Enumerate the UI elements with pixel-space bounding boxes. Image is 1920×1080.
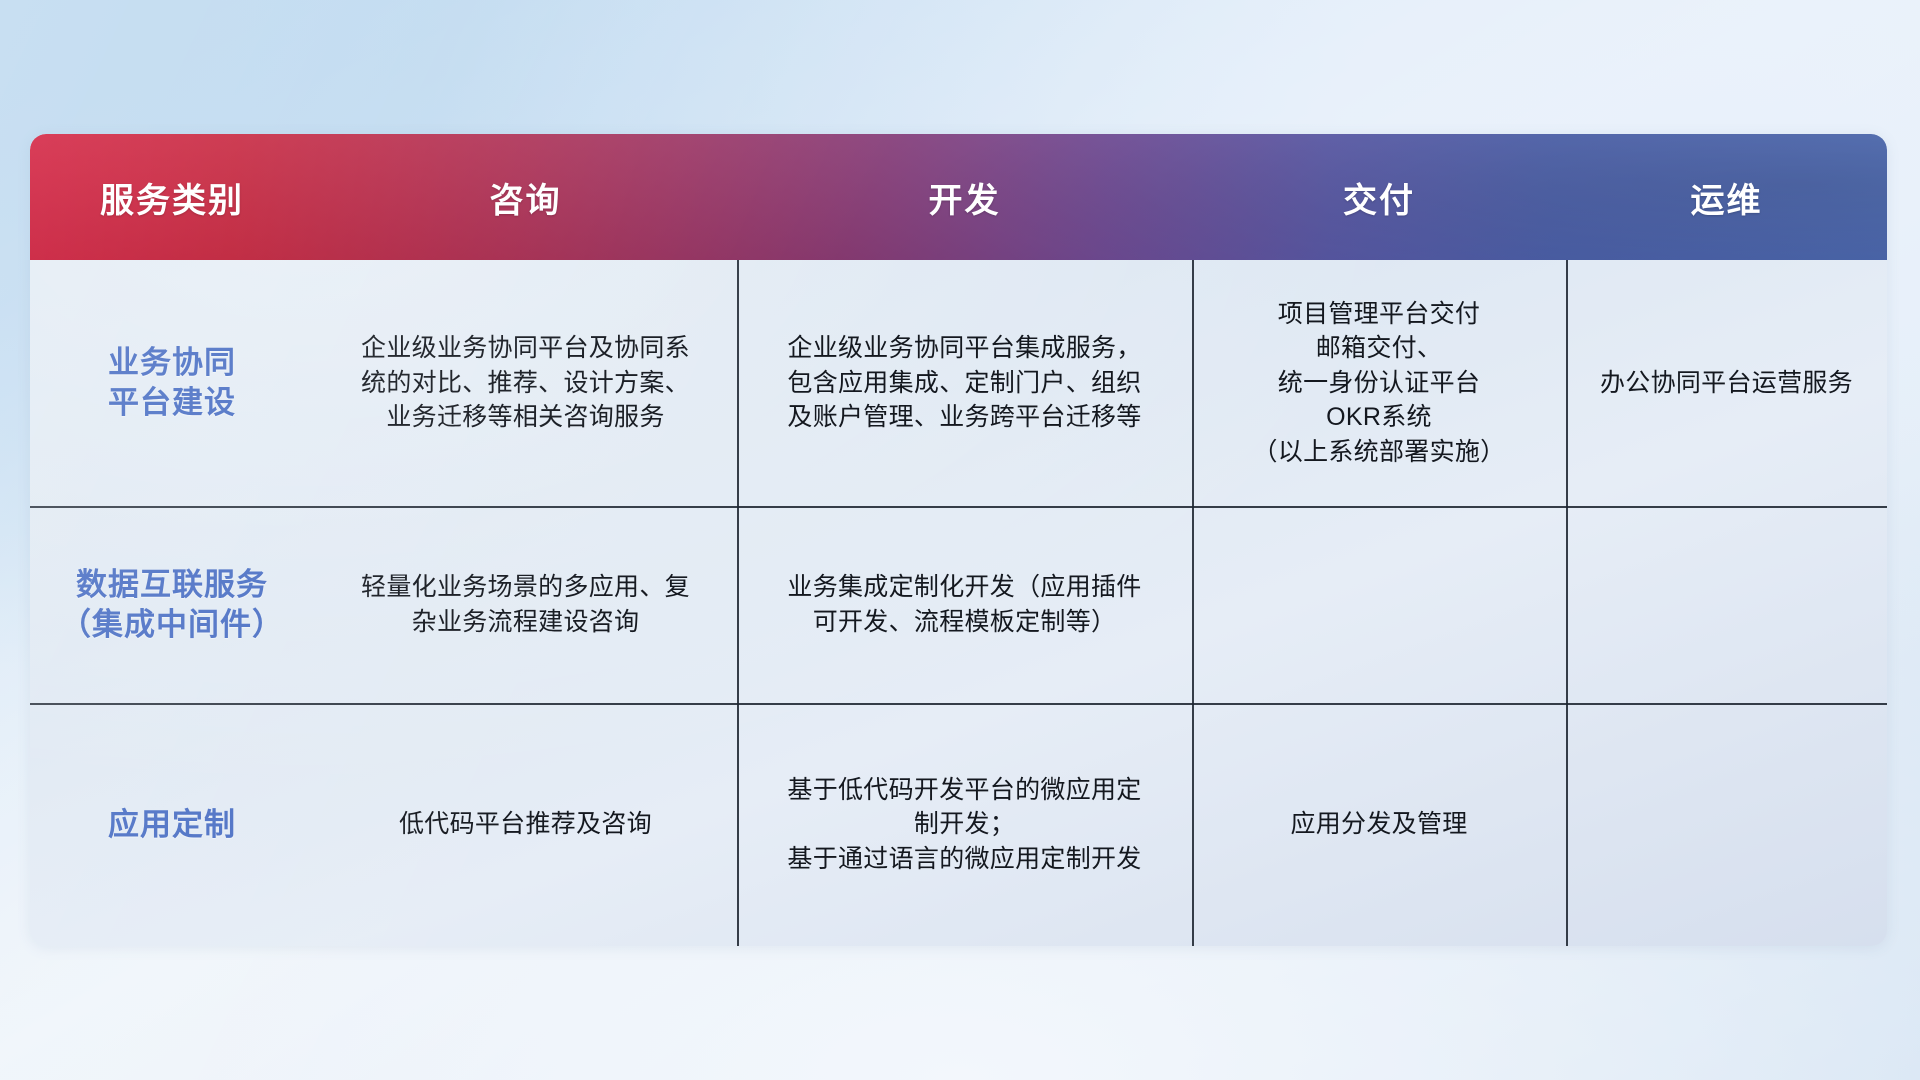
cell-text: 企业级业务协同平台集成服务， 包含应用集成、定制门户、组织 及账户管理、业务跨平… (787, 331, 1141, 435)
column-header-label: 交付 (1343, 173, 1415, 222)
cell-operations (1566, 703, 1887, 946)
cell-development: 企业级业务协同平台集成服务， 包含应用集成、定制门户、组织 及账户管理、业务跨平… (737, 260, 1192, 506)
cell-consulting: 企业级业务协同平台及协同系 统的对比、推荐、设计方案、 业务迁移等相关咨询服务 (314, 260, 737, 506)
cell-text: 办公协同平台运营服务 (1600, 366, 1853, 401)
cell-development: 基于低代码开发平台的微应用定 制开发； 基于通过语言的微应用定制开发 (737, 703, 1192, 946)
service-matrix-table: 服务类别 咨询 开发 交付 运维 业务协同 平台建设 企业级业务 (30, 134, 1887, 946)
cell-operations (1566, 506, 1887, 703)
table-row: 应用定制 低代码平台推荐及咨询 基于低代码开发平台的微应用定 制开发； 基于通过… (30, 703, 1887, 946)
table-header-row: 服务类别 咨询 开发 交付 运维 (30, 134, 1887, 260)
cell-text: 低代码平台推荐及咨询 (399, 807, 652, 842)
cell-text: 企业级业务协同平台及协同系 统的对比、推荐、设计方案、 业务迁移等相关咨询服务 (361, 331, 690, 435)
cell-operations: 办公协同平台运营服务 (1566, 260, 1887, 506)
column-header-delivery: 交付 (1192, 134, 1566, 260)
row-label: 应用定制 (108, 805, 236, 845)
table-row: 数据互联服务 （集成中间件） 轻量化业务场景的多应用、复 杂业务流程建设咨询 业… (30, 506, 1887, 703)
column-header-service-category: 服务类别 (30, 134, 314, 260)
cell-text: 基于低代码开发平台的微应用定 制开发； 基于通过语言的微应用定制开发 (787, 773, 1141, 877)
table-row: 业务协同 平台建设 企业级业务协同平台及协同系 统的对比、推荐、设计方案、 业务… (30, 260, 1887, 506)
cell-delivery: 应用分发及管理 (1192, 703, 1566, 946)
row-label: 数据互联服务 （集成中间件） (60, 565, 284, 644)
cell-consulting: 轻量化业务场景的多应用、复 杂业务流程建设咨询 (314, 506, 737, 703)
column-header-label: 咨询 (490, 173, 562, 222)
row-label-cell: 业务协同 平台建设 (30, 260, 314, 506)
column-header-operations: 运维 (1566, 134, 1887, 260)
column-header-label: 服务类别 (100, 173, 244, 222)
row-label: 业务协同 平台建设 (108, 343, 236, 422)
cell-text: 项目管理平台交付 邮箱交付、 统一身份认证平台 OKR系统 （以上系统部署实施） (1252, 297, 1505, 470)
slide-canvas: 服务类别 咨询 开发 交付 运维 业务协同 平台建设 企业级业务 (0, 0, 1920, 1080)
column-header-consulting: 咨询 (314, 134, 737, 260)
cell-text: 应用分发及管理 (1290, 807, 1467, 842)
cell-development: 业务集成定制化开发（应用插件 可开发、流程模板定制等） (737, 506, 1192, 703)
cell-consulting: 低代码平台推荐及咨询 (314, 703, 737, 946)
table-body: 业务协同 平台建设 企业级业务协同平台及协同系 统的对比、推荐、设计方案、 业务… (30, 260, 1887, 946)
column-header-development: 开发 (737, 134, 1192, 260)
cell-delivery (1192, 506, 1566, 703)
cell-delivery: 项目管理平台交付 邮箱交付、 统一身份认证平台 OKR系统 （以上系统部署实施） (1192, 260, 1566, 506)
row-label-cell: 应用定制 (30, 703, 314, 946)
cell-text: 轻量化业务场景的多应用、复 杂业务流程建设咨询 (361, 570, 690, 639)
cell-text: 业务集成定制化开发（应用插件 可开发、流程模板定制等） (787, 570, 1141, 639)
column-header-label: 开发 (929, 173, 1001, 222)
column-header-label: 运维 (1691, 173, 1763, 222)
row-label-cell: 数据互联服务 （集成中间件） (30, 506, 314, 703)
